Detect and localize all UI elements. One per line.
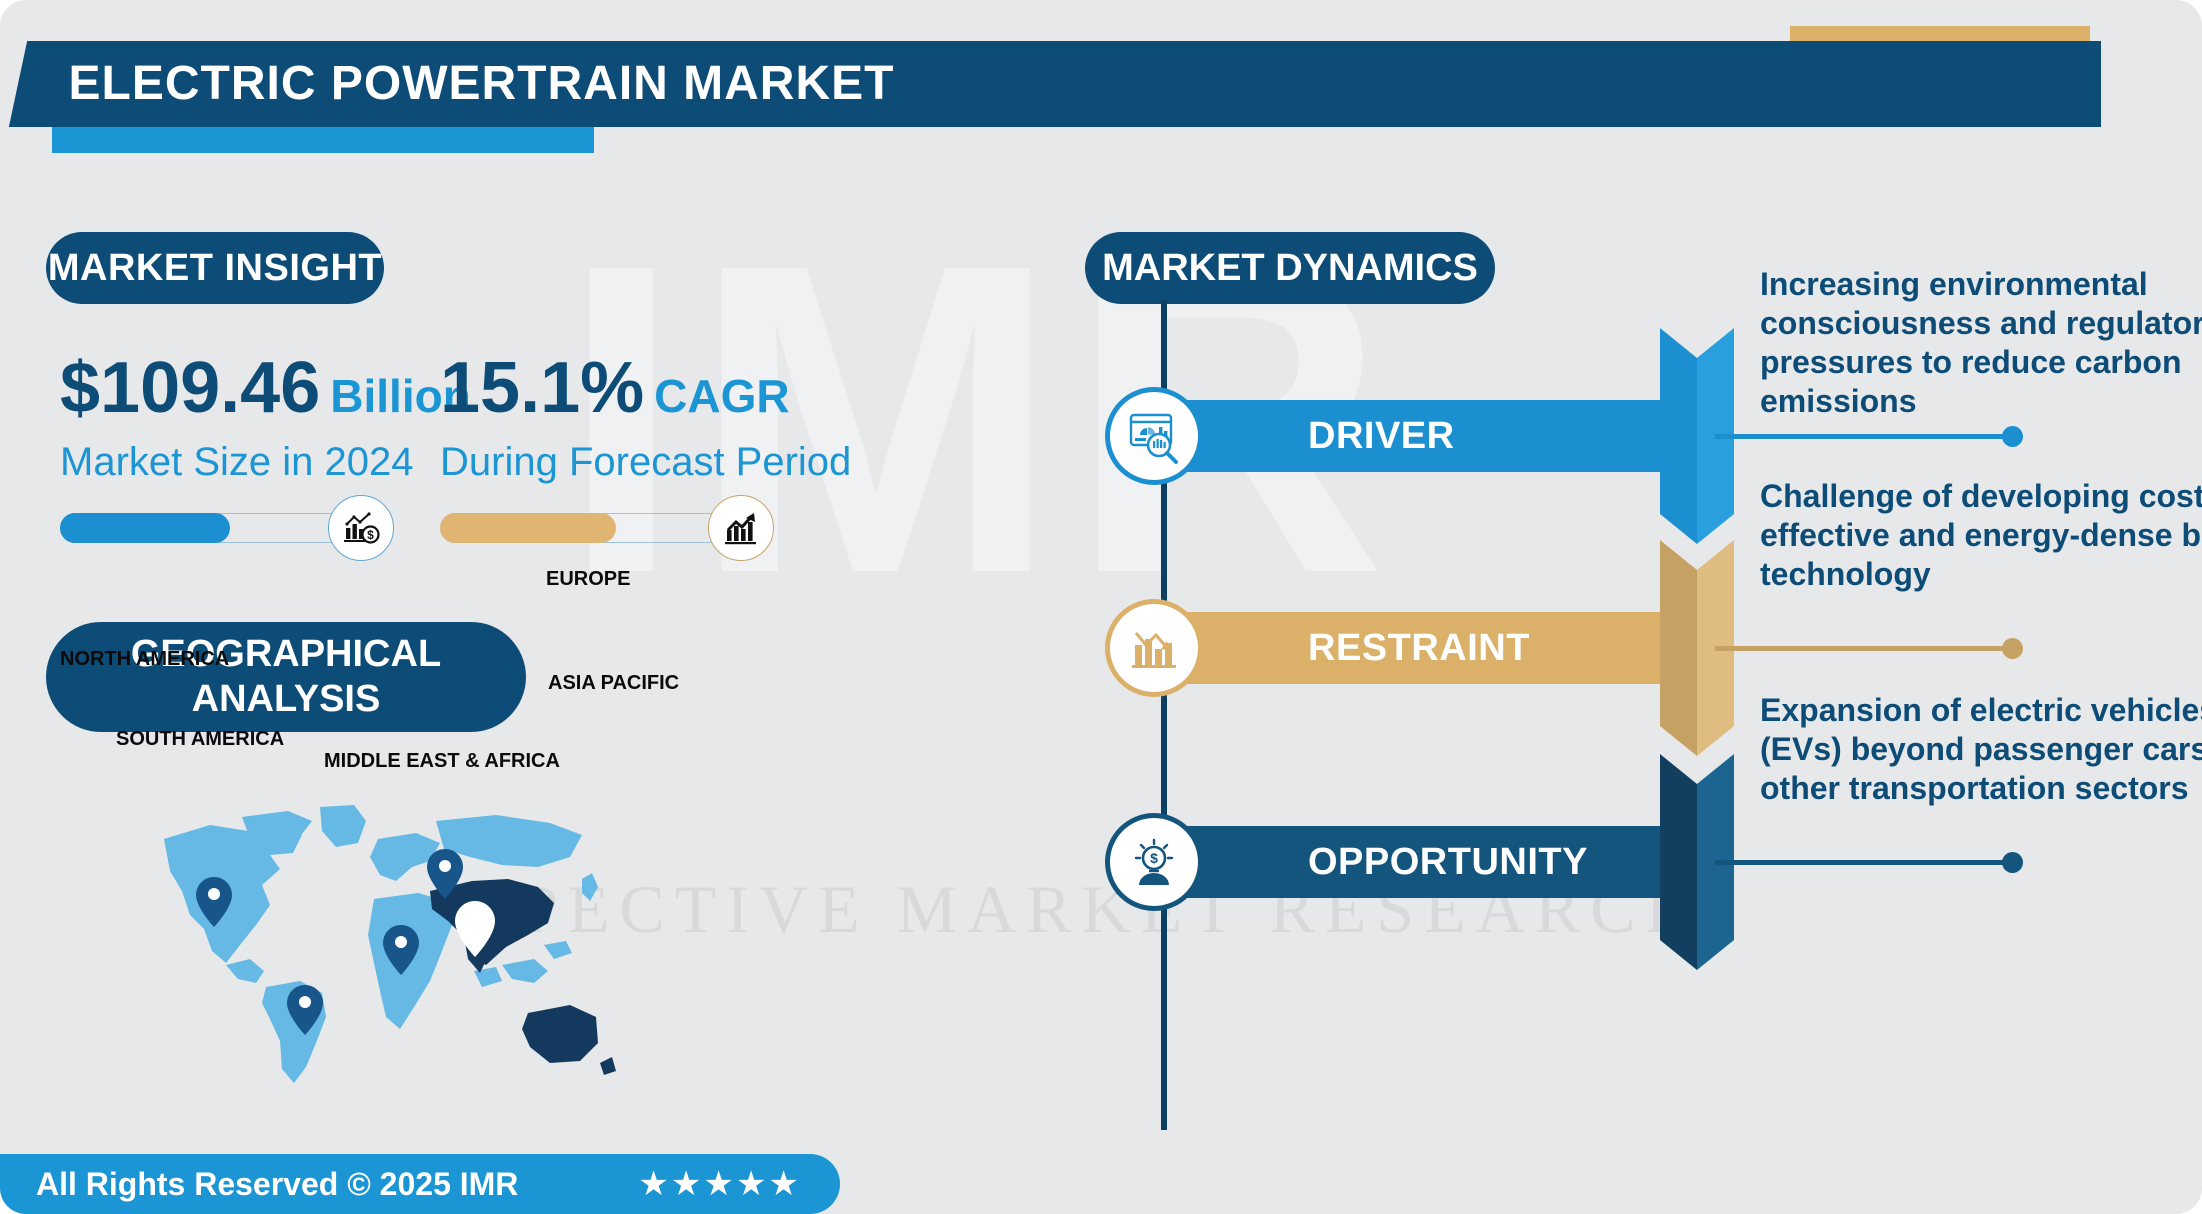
restraint-connector-line	[1715, 646, 2015, 651]
map-label-south-america: SOUTH AMERICA	[116, 728, 284, 751]
market-insight-label: MARKET INSIGHT	[48, 247, 382, 290]
map-label-asia-pacific: ASIA PACIFIC	[548, 672, 679, 695]
opportunity-ribbon: OPPORTUNITY	[1160, 826, 1660, 898]
driver-connector-dot	[2002, 426, 2023, 447]
stat-cagr-unit: CAGR	[654, 370, 789, 422]
stat-market-size-caption: Market Size in 2024	[60, 440, 471, 485]
rating-stars-icon: ★★★★★	[638, 1164, 800, 1204]
driver-description: Increasing environmental consciousness a…	[1760, 265, 2202, 421]
market-dynamics-label: MARKET DYNAMICS	[1102, 247, 1478, 290]
market-dynamics-pill: MARKET DYNAMICS	[1085, 232, 1495, 304]
stat-market-size-progress: $	[60, 513, 390, 543]
progress-fill	[440, 513, 616, 543]
data-analysis-search-icon	[1105, 387, 1203, 485]
opportunity-label: OPPORTUNITY	[1308, 841, 1588, 884]
footer-copyright: All Rights Reserved © 2025 IMR	[36, 1166, 518, 1203]
driver-label: DRIVER	[1308, 415, 1455, 458]
world-map	[130, 795, 650, 1095]
progress-fill	[60, 513, 230, 543]
stat-market-size-value: $109.46	[60, 348, 320, 428]
footer-bar: All Rights Reserved © 2025 IMR ★★★★★	[0, 1154, 840, 1214]
growth-arrow-icon	[708, 495, 774, 561]
market-insight-pill: MARKET INSIGHT	[46, 232, 384, 304]
geographical-analysis-pill: GEOGRAPHICAL ANALYSIS	[46, 622, 526, 732]
lightbulb-dollar-icon: $	[1105, 813, 1203, 911]
page-title: ELECTRIC POWERTRAIN MARKET	[29, 41, 2094, 127]
driver-ribbon: DRIVER	[1160, 400, 1660, 472]
restraint-connector-dot	[2002, 638, 2023, 659]
stat-cagr-value-row: 15.1%CAGR	[440, 352, 851, 424]
svg-text:$: $	[367, 528, 374, 542]
stat-market-size-value-row: $109.46Billion	[60, 352, 471, 424]
bar-chart-dollar-icon: $	[328, 495, 394, 561]
infographic-page: IMR PECTIVE MARKET RESEARCH ELECTRIC POW…	[0, 0, 2202, 1214]
header-underline-accent	[52, 127, 594, 153]
stat-cagr-progress	[440, 513, 770, 543]
geo-pill-line2: ANALYSIS	[192, 677, 381, 722]
stat-market-size: $109.46Billion Market Size in 2024 $	[60, 352, 471, 543]
header-bar: ELECTRIC POWERTRAIN MARKET	[36, 41, 2101, 127]
declining-chart-icon	[1105, 599, 1203, 697]
opportunity-connector-dot	[2002, 852, 2023, 873]
driver-connector-line	[1715, 434, 2015, 439]
opportunity-description: Expansion of electric vehicles (EVs) bey…	[1760, 691, 2202, 808]
restraint-label: RESTRAINT	[1308, 627, 1530, 670]
map-label-europe: EUROPE	[546, 568, 630, 591]
stat-cagr-value: 15.1%	[440, 348, 644, 428]
map-label-north-america: NORTH AMERICA	[60, 648, 229, 671]
stat-cagr: 15.1%CAGR During Forecast Period	[440, 352, 851, 543]
stat-cagr-caption: During Forecast Period	[440, 440, 851, 485]
opportunity-connector-line	[1715, 860, 2015, 865]
svg-text:$: $	[1150, 850, 1158, 866]
map-label-middle-east-africa: MIDDLE EAST & AFRICA	[324, 750, 560, 773]
restraint-ribbon: RESTRAINT	[1160, 612, 1660, 684]
restraint-description: Challenge of developing cost-effective a…	[1760, 477, 2202, 594]
